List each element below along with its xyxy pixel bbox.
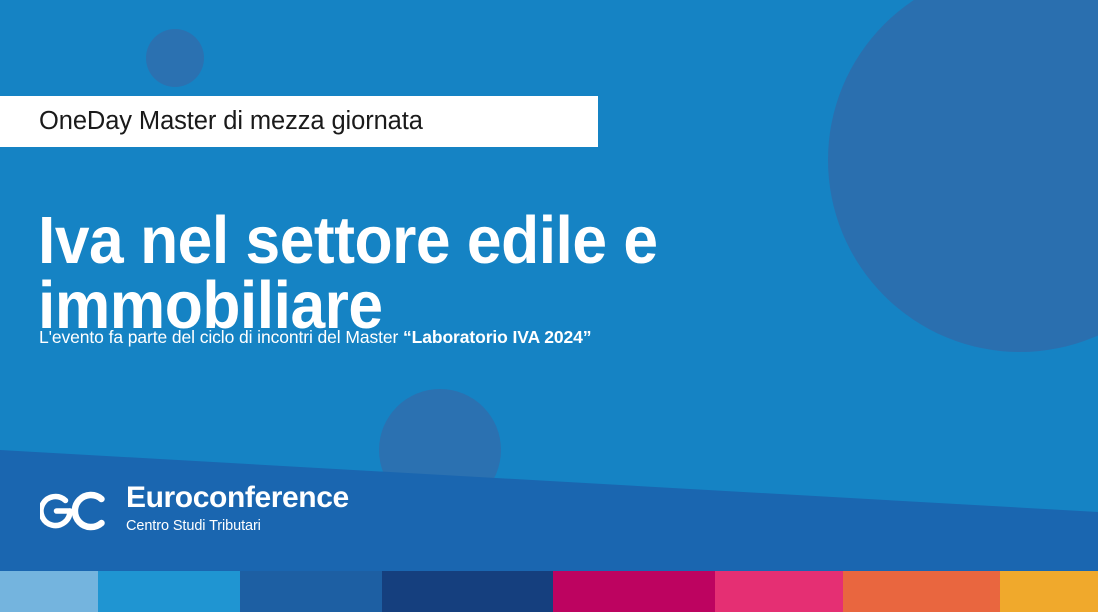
subtitle-master-name: “Laboratorio IVA 2024” [403, 327, 591, 347]
ec-monogram-icon [40, 485, 116, 537]
brand-logo: Euroconference Centro Studi Tributari [40, 483, 349, 537]
brand-tagline: Centro Studi Tributari [126, 519, 349, 534]
page-title: Iva nel settore edile e immobiliare [38, 208, 745, 338]
decorative-circle-small-top [146, 29, 204, 87]
subtitle-lead-text: L'evento fa parte del ciclo di incontri … [39, 327, 403, 347]
stripe-segment-gold [1000, 571, 1098, 612]
event-format-badge: OneDay Master di mezza giornata [0, 96, 598, 147]
stripe-segment-light-blue [0, 571, 98, 612]
decorative-circle-large [828, 0, 1098, 352]
stripe-segment-pink [715, 571, 843, 612]
stripe-segment-steel-blue [240, 571, 382, 612]
stripe-segment-orange [843, 571, 1000, 612]
event-format-label: OneDay Master di mezza giornata [0, 109, 423, 135]
stripe-segment-navy [382, 571, 553, 612]
brand-logo-text: Euroconference Centro Studi Tributari [126, 483, 349, 534]
brand-color-stripe [0, 571, 1098, 612]
event-subtitle: L'evento fa parte del ciclo di incontri … [39, 327, 591, 348]
stripe-segment-azure [98, 571, 240, 612]
stripe-segment-magenta [553, 571, 715, 612]
brand-name: Euroconference [126, 483, 349, 513]
promo-banner: OneDay Master di mezza giornata Iva nel … [0, 0, 1098, 612]
